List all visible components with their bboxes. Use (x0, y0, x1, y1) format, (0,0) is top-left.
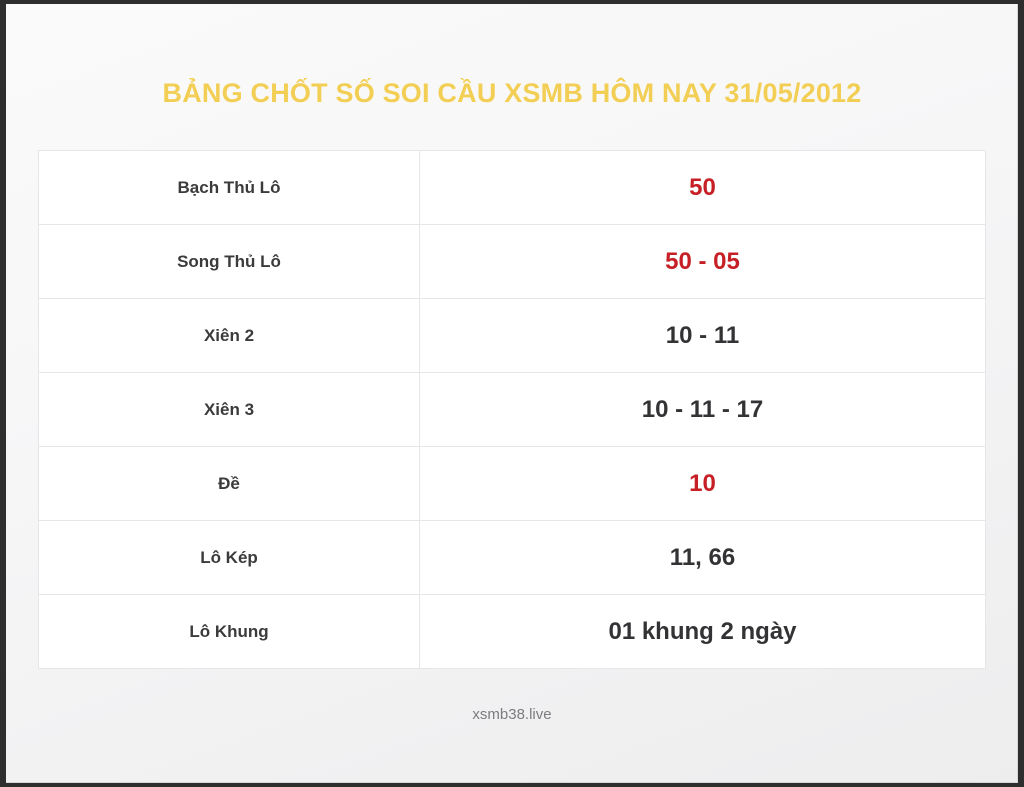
page-title: BẢNG CHỐT SỐ SOI CẦU XSMB HÔM NAY 31/05/… (6, 78, 1018, 109)
row-label: Lô Kép (39, 521, 420, 595)
page-frame: BẢNG CHỐT SỐ SOI CẦU XSMB HÔM NAY 31/05/… (6, 4, 1018, 783)
row-value: 10 (420, 447, 986, 521)
row-value: 50 - 05 (420, 225, 986, 299)
row-value: 01 khung 2 ngày (420, 595, 986, 669)
row-label: Xiên 2 (39, 299, 420, 373)
table-row: Song Thủ Lô 50 - 05 (39, 225, 986, 299)
row-label: Đề (39, 447, 420, 521)
table-body: Bạch Thủ Lô 50 Song Thủ Lô 50 - 05 Xiên … (39, 151, 986, 669)
table-row: Đề 10 (39, 447, 986, 521)
table-row: Lô Khung 01 khung 2 ngày (39, 595, 986, 669)
table-row: Bạch Thủ Lô 50 (39, 151, 986, 225)
row-value: 11, 66 (420, 521, 986, 595)
site-watermark: xsmb38.live (6, 706, 1018, 723)
row-label: Song Thủ Lô (39, 225, 420, 299)
row-label: Bạch Thủ Lô (39, 151, 420, 225)
lottery-prediction-table: Bạch Thủ Lô 50 Song Thủ Lô 50 - 05 Xiên … (38, 150, 986, 669)
row-value: 10 - 11 - 17 (420, 373, 986, 447)
table-row: Xiên 2 10 - 11 (39, 299, 986, 373)
row-label: Lô Khung (39, 595, 420, 669)
row-label: Xiên 3 (39, 373, 420, 447)
table-row: Xiên 3 10 - 11 - 17 (39, 373, 986, 447)
row-value: 10 - 11 (420, 299, 986, 373)
row-value: 50 (420, 151, 986, 225)
table-row: Lô Kép 11, 66 (39, 521, 986, 595)
